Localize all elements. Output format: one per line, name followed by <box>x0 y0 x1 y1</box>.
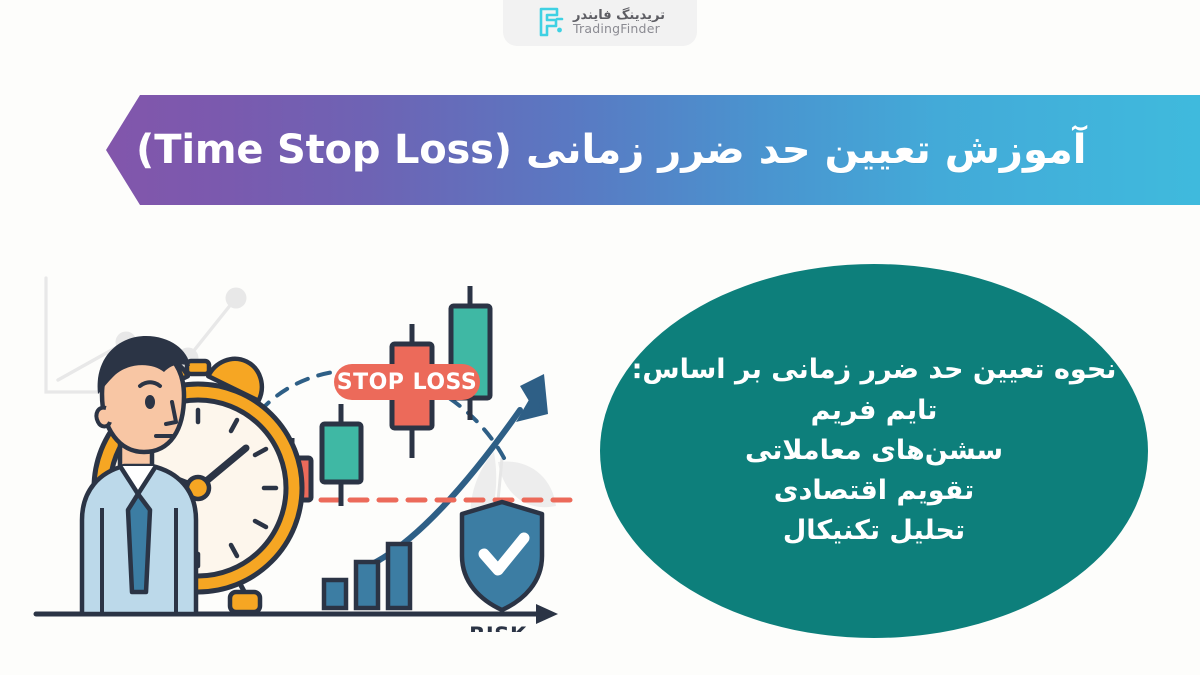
brand-logo-text: تریدینگ فایندر TradingFinder <box>573 9 665 36</box>
bar-3 <box>388 544 410 608</box>
bar-2 <box>356 562 378 608</box>
page-title-banner: آموزش تعیین حد ضرر زمانی (Time Stop Loss… <box>106 95 1200 205</box>
tradingfinder-logo-icon <box>535 6 565 38</box>
callout-item-sessions: سشن‌های معاملاتی <box>745 432 1003 470</box>
callout-item-technical-analysis: تحلیل تکنیکال <box>783 512 965 550</box>
callout-ellipse: نحوه تعیین حد ضرر زمانی بر اساس: تایم فر… <box>600 264 1148 638</box>
page-title: آموزش تعیین حد ضرر زمانی (Time Stop Loss… <box>136 128 1087 172</box>
callout-heading: نحوه تعیین حد ضرر زمانی بر اساس: <box>632 351 1117 389</box>
poster-canvas: تریدینگ فایندر TradingFinder آموزش تعیین… <box>0 0 1200 675</box>
callout-item-timeframe: تایم فریم <box>811 392 938 430</box>
stop-loss-badge[interactable]: STOP LOSS <box>334 364 480 400</box>
trading-illustration: STOP LOSS RISK <box>28 262 588 632</box>
volume-bar-chart <box>324 544 410 608</box>
stop-loss-label: STOP LOSS <box>337 370 477 395</box>
risk-axis-label: RISK <box>469 623 527 632</box>
brand-logo[interactable]: تریدینگ فایندر TradingFinder <box>503 0 697 46</box>
brand-name-en: TradingFinder <box>573 22 660 35</box>
candle-3 <box>322 404 361 506</box>
shield-check-icon <box>462 502 542 610</box>
brand-name-fa: تریدینگ فایندر <box>573 9 665 23</box>
callout-item-economic-calendar: تقویم اقتصادی <box>774 472 975 510</box>
bar-1 <box>324 580 346 608</box>
